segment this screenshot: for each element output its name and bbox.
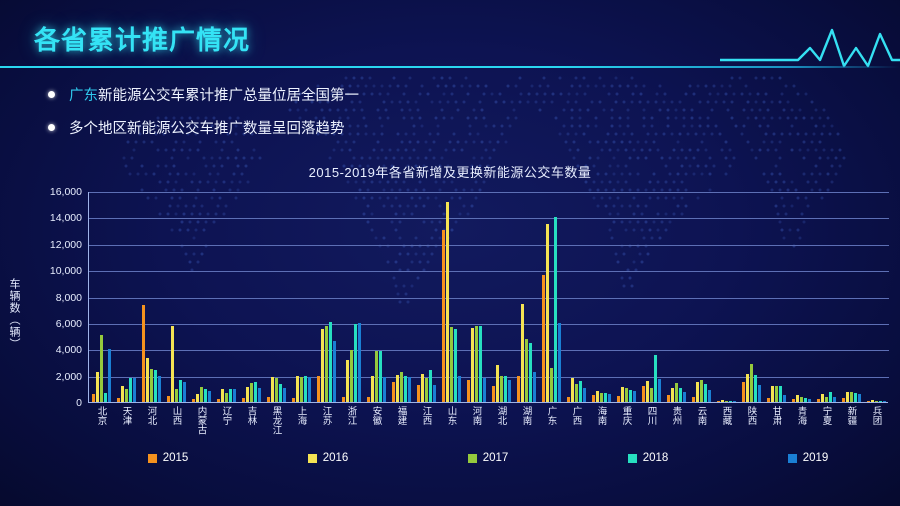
chart-bar <box>883 401 886 402</box>
chart-bar <box>342 397 345 402</box>
chart-bar <box>858 394 861 402</box>
chart-bar <box>117 398 120 402</box>
chart-x-tick-label: 云南 <box>694 406 708 425</box>
chart-legend: 20152016201720182019 <box>88 452 888 464</box>
chart-bar-group <box>342 191 360 402</box>
chart-bar <box>121 386 124 402</box>
chart-bar <box>508 380 511 402</box>
chart-x-tick-label: 黑龙江 <box>269 406 283 435</box>
chart-y-tick-label: 0 <box>22 397 82 409</box>
chart-bar <box>546 224 549 402</box>
chart-bar <box>767 398 770 402</box>
chart-bar <box>258 388 261 403</box>
chart-x-tick-label: 海南 <box>594 406 608 425</box>
chart-bar <box>171 326 174 402</box>
chart-bar <box>279 384 282 402</box>
chart-bar <box>621 387 624 402</box>
chart-bar <box>800 397 803 402</box>
chart-x-tick-label: 天津 <box>119 406 133 425</box>
chart-bar <box>829 392 832 402</box>
chart-bar <box>646 381 649 402</box>
chart-x-tick-label: 福建 <box>394 406 408 425</box>
chart-bar <box>392 382 395 402</box>
chart-bar <box>721 400 724 402</box>
chart-bar <box>371 376 374 402</box>
chart-bar <box>796 395 799 402</box>
chart-bar <box>571 378 574 402</box>
page-title: 各省累计推广情况 <box>34 20 250 57</box>
chart-x-tick-label: 甘肃 <box>769 406 783 425</box>
chart-bar <box>158 376 161 402</box>
chart-x-tick-label: 江苏 <box>319 406 333 425</box>
chart-x-tick-label: 湖北 <box>494 406 508 425</box>
chart-bar <box>417 385 420 402</box>
chart-bar-group <box>117 191 135 402</box>
chart-bar <box>629 390 632 402</box>
chart-x-tick-label: 广西 <box>569 406 583 425</box>
chart-bar <box>871 400 874 402</box>
chart-bar <box>133 378 136 402</box>
chart-x-tick-label: 重庆 <box>619 406 633 425</box>
chart-bar <box>196 394 199 402</box>
legend-label: 2019 <box>803 452 829 464</box>
chart-bar <box>129 378 132 402</box>
chart-bar <box>733 401 736 402</box>
list-item: 多个地区新能源公交车推广数量呈回落趋势 <box>48 117 668 138</box>
chart-bar <box>204 389 207 402</box>
chart-bar-group <box>692 191 710 402</box>
chart-bar-group <box>767 191 785 402</box>
chart-bar <box>175 389 178 402</box>
chart-bar <box>304 376 307 402</box>
chart-bar-group <box>467 191 485 402</box>
chart-y-axis-ticks: 16,00014,00012,00010,0008,0006,0004,0002… <box>20 160 82 506</box>
chart-bar <box>221 389 224 402</box>
chart-bar <box>246 387 249 402</box>
legend-color-swatch <box>788 454 797 463</box>
chart-bar <box>696 382 699 402</box>
legend-label: 2016 <box>323 452 349 464</box>
chart-bar-group <box>192 191 210 402</box>
chart-bar <box>679 388 682 403</box>
chart-bar-group <box>642 191 660 402</box>
chart-bar <box>504 376 507 402</box>
chart-bar <box>500 376 503 402</box>
chart-bar <box>400 372 403 402</box>
chart-x-tick-label: 河南 <box>469 406 483 425</box>
chart-bar <box>867 401 870 402</box>
chart-y-tick-label: 4,000 <box>22 344 82 356</box>
chart-bar <box>325 326 328 402</box>
chart-bar <box>267 397 270 402</box>
legend-color-swatch <box>468 454 477 463</box>
bullet-dot-icon <box>48 124 55 131</box>
chart-bar <box>492 386 495 402</box>
chart-x-tick-label: 浙江 <box>344 406 358 425</box>
legend-label: 2018 <box>643 452 669 464</box>
chart-x-tick-label: 辽宁 <box>219 406 233 425</box>
chart-bar <box>642 386 645 402</box>
chart-bar <box>554 217 557 402</box>
bullet-list: 广东新能源公交车累计推广总量位居全国第一 多个地区新能源公交车推广数量呈回落趋势 <box>48 84 668 150</box>
chart-x-tick-label: 吉林 <box>244 406 258 425</box>
chart-bar <box>675 383 678 402</box>
chart-bar <box>529 343 532 402</box>
chart-bar <box>404 376 407 402</box>
chart-bar <box>821 394 824 402</box>
chart-bar <box>379 351 382 402</box>
chart-y-tick-label: 14,000 <box>22 212 82 224</box>
chart-bar <box>846 392 849 402</box>
chart-bar <box>479 326 482 402</box>
chart-bar <box>275 378 278 402</box>
chart-bar <box>525 339 528 402</box>
chart-bar <box>583 388 586 402</box>
legend-label: 2015 <box>163 452 189 464</box>
chart-bar-group <box>392 191 410 402</box>
chart-bar <box>350 350 353 402</box>
chart-bar <box>604 393 607 402</box>
chart-bar <box>396 375 399 402</box>
chart-bar-group <box>817 191 835 402</box>
chart-bar <box>600 393 603 402</box>
chart-bar <box>742 382 745 402</box>
chart-bar <box>771 386 774 402</box>
chart-x-tick-label: 湖南 <box>519 406 533 425</box>
chart-bar <box>579 381 582 402</box>
chart-y-tick-label: 6,000 <box>22 318 82 330</box>
chart-bar <box>854 393 857 402</box>
chart-bar <box>633 391 636 402</box>
chart-bar <box>617 396 620 402</box>
chart-bar <box>758 385 761 402</box>
chart-bar <box>375 351 378 402</box>
chart-bar <box>250 383 253 402</box>
chart-bar-group <box>317 191 335 402</box>
chart-bar <box>425 378 428 402</box>
chart-bar <box>700 380 703 402</box>
chart-bar <box>154 370 157 402</box>
chart-bar <box>329 322 332 402</box>
chart-bar <box>104 393 107 402</box>
chart-bar <box>533 372 536 402</box>
chart-bar <box>283 388 286 403</box>
chart-legend-item[interactable]: 2017 <box>468 452 509 464</box>
legend-color-swatch <box>308 454 317 463</box>
chart-y-tick-label: 16,000 <box>22 186 82 198</box>
chart-x-tick-label: 内蒙古 <box>194 406 208 435</box>
chart-bar-group <box>292 191 310 402</box>
chart-bar-group <box>592 191 610 402</box>
chart-bar <box>833 397 836 402</box>
chart-bar-group <box>717 191 735 402</box>
chart-bar-group <box>842 191 860 402</box>
chart-x-tick-label: 西藏 <box>719 406 733 425</box>
legend-color-swatch <box>148 454 157 463</box>
chart-bar <box>233 389 236 402</box>
chart-x-tick-label: 广东 <box>544 406 558 425</box>
chart-legend-item[interactable]: 2018 <box>628 452 669 464</box>
chart-bar <box>308 377 311 402</box>
chart-bar <box>729 401 732 402</box>
chart-bar-group <box>242 191 260 402</box>
chart-bar <box>254 382 257 402</box>
chart-bar <box>779 386 782 402</box>
chart-x-tick-label: 贵州 <box>669 406 683 425</box>
chart-bar <box>167 396 170 402</box>
chart-bar-group <box>867 191 885 402</box>
chart-bar-group <box>617 191 635 402</box>
chart-bar <box>592 395 595 402</box>
chart-bar-group <box>567 191 585 402</box>
bullet-highlight: 广东 <box>69 88 98 104</box>
chart-bar <box>321 329 324 402</box>
chart-bar <box>217 399 220 402</box>
chart-bar-group <box>517 191 535 402</box>
chart-bar <box>442 230 445 402</box>
chart-bar-group <box>217 191 235 402</box>
chart-bar <box>692 397 695 402</box>
chart-x-tick-label: 山东 <box>444 406 458 425</box>
chart-bar <box>450 327 453 402</box>
chart-bar <box>471 328 474 403</box>
chart-bar <box>383 377 386 402</box>
chart-bar <box>879 401 882 402</box>
chart-bar-group <box>792 191 810 402</box>
chart-bar <box>875 401 878 402</box>
chart-legend-item[interactable]: 2019 <box>788 452 829 464</box>
bullet-rest: 新能源公交车累计推广总量位居全国第一 <box>98 88 359 104</box>
chart-bar <box>454 329 457 402</box>
chart-bar <box>208 391 211 402</box>
chart-bar <box>808 399 811 402</box>
chart-bar-group <box>742 191 760 402</box>
header-band: 各省累计推广情况 <box>0 0 900 68</box>
bullet-dot-icon <box>48 91 55 98</box>
chart-bar <box>725 401 728 402</box>
chart-bar <box>483 378 486 402</box>
chart-bar <box>558 323 561 402</box>
slide-root: 各省累计推广情况 广东新能源公交车累计推广总量位居全国第一 多个地区新能源公交车… <box>0 0 900 506</box>
heartbeat-icon <box>720 20 900 72</box>
chart-y-tick-label: 2,000 <box>22 371 82 383</box>
chart-bar <box>92 394 95 402</box>
chart-bar <box>421 374 424 402</box>
chart-x-tick-label: 上海 <box>294 406 308 425</box>
chart-bar <box>358 323 361 402</box>
chart-bar <box>125 389 128 402</box>
chart-bar <box>183 382 186 402</box>
chart-bar <box>408 377 411 402</box>
chart-y-tick-label: 10,000 <box>22 265 82 277</box>
chart-bar <box>300 377 303 402</box>
chart-bar <box>717 401 720 402</box>
chart-bar <box>625 388 628 403</box>
chart-x-tick-label: 青海 <box>794 406 808 425</box>
list-item: 广东新能源公交车累计推广总量位居全国第一 <box>48 84 668 105</box>
chart-bar-group <box>542 191 560 402</box>
chart-x-tick-label: 兵团 <box>869 406 883 425</box>
chart-bar <box>754 375 757 402</box>
chart-bar <box>842 398 845 402</box>
chart-bar <box>596 391 599 402</box>
chart-x-tick-label: 北京 <box>94 406 108 425</box>
chart-bar-group <box>442 191 460 402</box>
chart-y-tick-label: 8,000 <box>22 292 82 304</box>
bullet-text: 多个地区新能源公交车推广数量呈回落趋势 <box>69 117 345 138</box>
chart-x-tick-label: 宁夏 <box>819 406 833 425</box>
chart-legend-item[interactable]: 2016 <box>308 452 349 464</box>
chart-bar <box>792 399 795 402</box>
chart-bar <box>783 395 786 402</box>
chart-bar <box>192 399 195 402</box>
chart-x-tick-label: 安徽 <box>369 406 383 425</box>
chart-bar <box>542 275 545 402</box>
chart-title: 2015-2019年各省新增及更换新能源公交车数量 <box>0 162 900 181</box>
chart-bar <box>671 388 674 402</box>
bullet-text: 广东新能源公交车累计推广总量位居全国第一 <box>69 84 359 105</box>
chart-bar-group <box>92 191 110 402</box>
chart-bar <box>429 370 432 402</box>
chart-bar <box>550 368 553 402</box>
chart-bar-group <box>167 191 185 402</box>
bullet-rest: 多个地区新能源公交车推广数量呈回落趋势 <box>69 121 345 137</box>
chart-bar <box>804 398 807 402</box>
chart-bar <box>333 341 336 402</box>
chart-bar <box>654 355 657 402</box>
chart-bar <box>708 390 711 402</box>
chart-bar <box>225 393 228 402</box>
chart-bar <box>146 358 149 402</box>
chart-bar <box>850 392 853 402</box>
chart-bar <box>271 377 274 402</box>
chart-bar <box>608 394 611 402</box>
chart-bar <box>433 385 436 402</box>
chart-x-tick-label: 陕西 <box>744 406 758 425</box>
chart-bar <box>467 380 470 402</box>
chart-bar <box>200 387 203 402</box>
chart-bar <box>704 384 707 402</box>
chart-bar <box>367 397 370 402</box>
chart-container: 2015-2019年各省新增及更换新能源公交车数量 车辆数（辆） 16,0001… <box>0 160 900 506</box>
chart-bar <box>521 304 524 402</box>
chart-legend-item[interactable]: 2015 <box>148 452 189 464</box>
chart-bar <box>100 335 103 402</box>
chart-bar <box>179 380 182 402</box>
chart-bar <box>496 365 499 402</box>
chart-bar <box>346 360 349 402</box>
chart-bar <box>667 395 670 402</box>
chart-bar <box>296 376 299 402</box>
chart-plot-area <box>88 192 888 403</box>
chart-x-tick-label: 江西 <box>419 406 433 425</box>
chart-bar-group <box>417 191 435 402</box>
chart-bar-group <box>267 191 285 402</box>
chart-bar <box>475 326 478 402</box>
chart-bar <box>750 364 753 402</box>
chart-bar <box>825 397 828 402</box>
chart-bar <box>458 376 461 402</box>
chart-bar <box>575 384 578 402</box>
chart-bar <box>150 369 153 402</box>
chart-y-tick-label: 12,000 <box>22 239 82 251</box>
chart-bar <box>242 398 245 402</box>
chart-bar <box>229 389 232 402</box>
chart-bar <box>817 399 820 402</box>
chart-bar-group <box>667 191 685 402</box>
chart-bar <box>683 392 686 402</box>
chart-bar <box>775 386 778 402</box>
chart-bar <box>108 349 111 402</box>
chart-bar <box>317 376 320 402</box>
legend-label: 2017 <box>483 452 509 464</box>
chart-bar <box>354 324 357 402</box>
chart-bar <box>292 398 295 402</box>
chart-bar <box>567 397 570 402</box>
chart-bar <box>96 372 99 402</box>
chart-bar <box>650 388 653 402</box>
title-underline-rule <box>0 66 900 68</box>
chart-bar-group <box>492 191 510 402</box>
legend-color-swatch <box>628 454 637 463</box>
chart-x-tick-label: 新疆 <box>844 406 858 425</box>
chart-bar <box>517 376 520 402</box>
chart-x-tick-label: 河北 <box>144 406 158 425</box>
chart-bar <box>746 374 749 402</box>
chart-bar-group <box>142 191 160 402</box>
chart-bar <box>446 202 449 402</box>
chart-x-tick-label: 山西 <box>169 406 183 425</box>
chart-bar <box>658 379 661 402</box>
chart-x-tick-label: 四川 <box>644 406 658 425</box>
chart-bar <box>142 305 145 402</box>
chart-bar-group <box>367 191 385 402</box>
